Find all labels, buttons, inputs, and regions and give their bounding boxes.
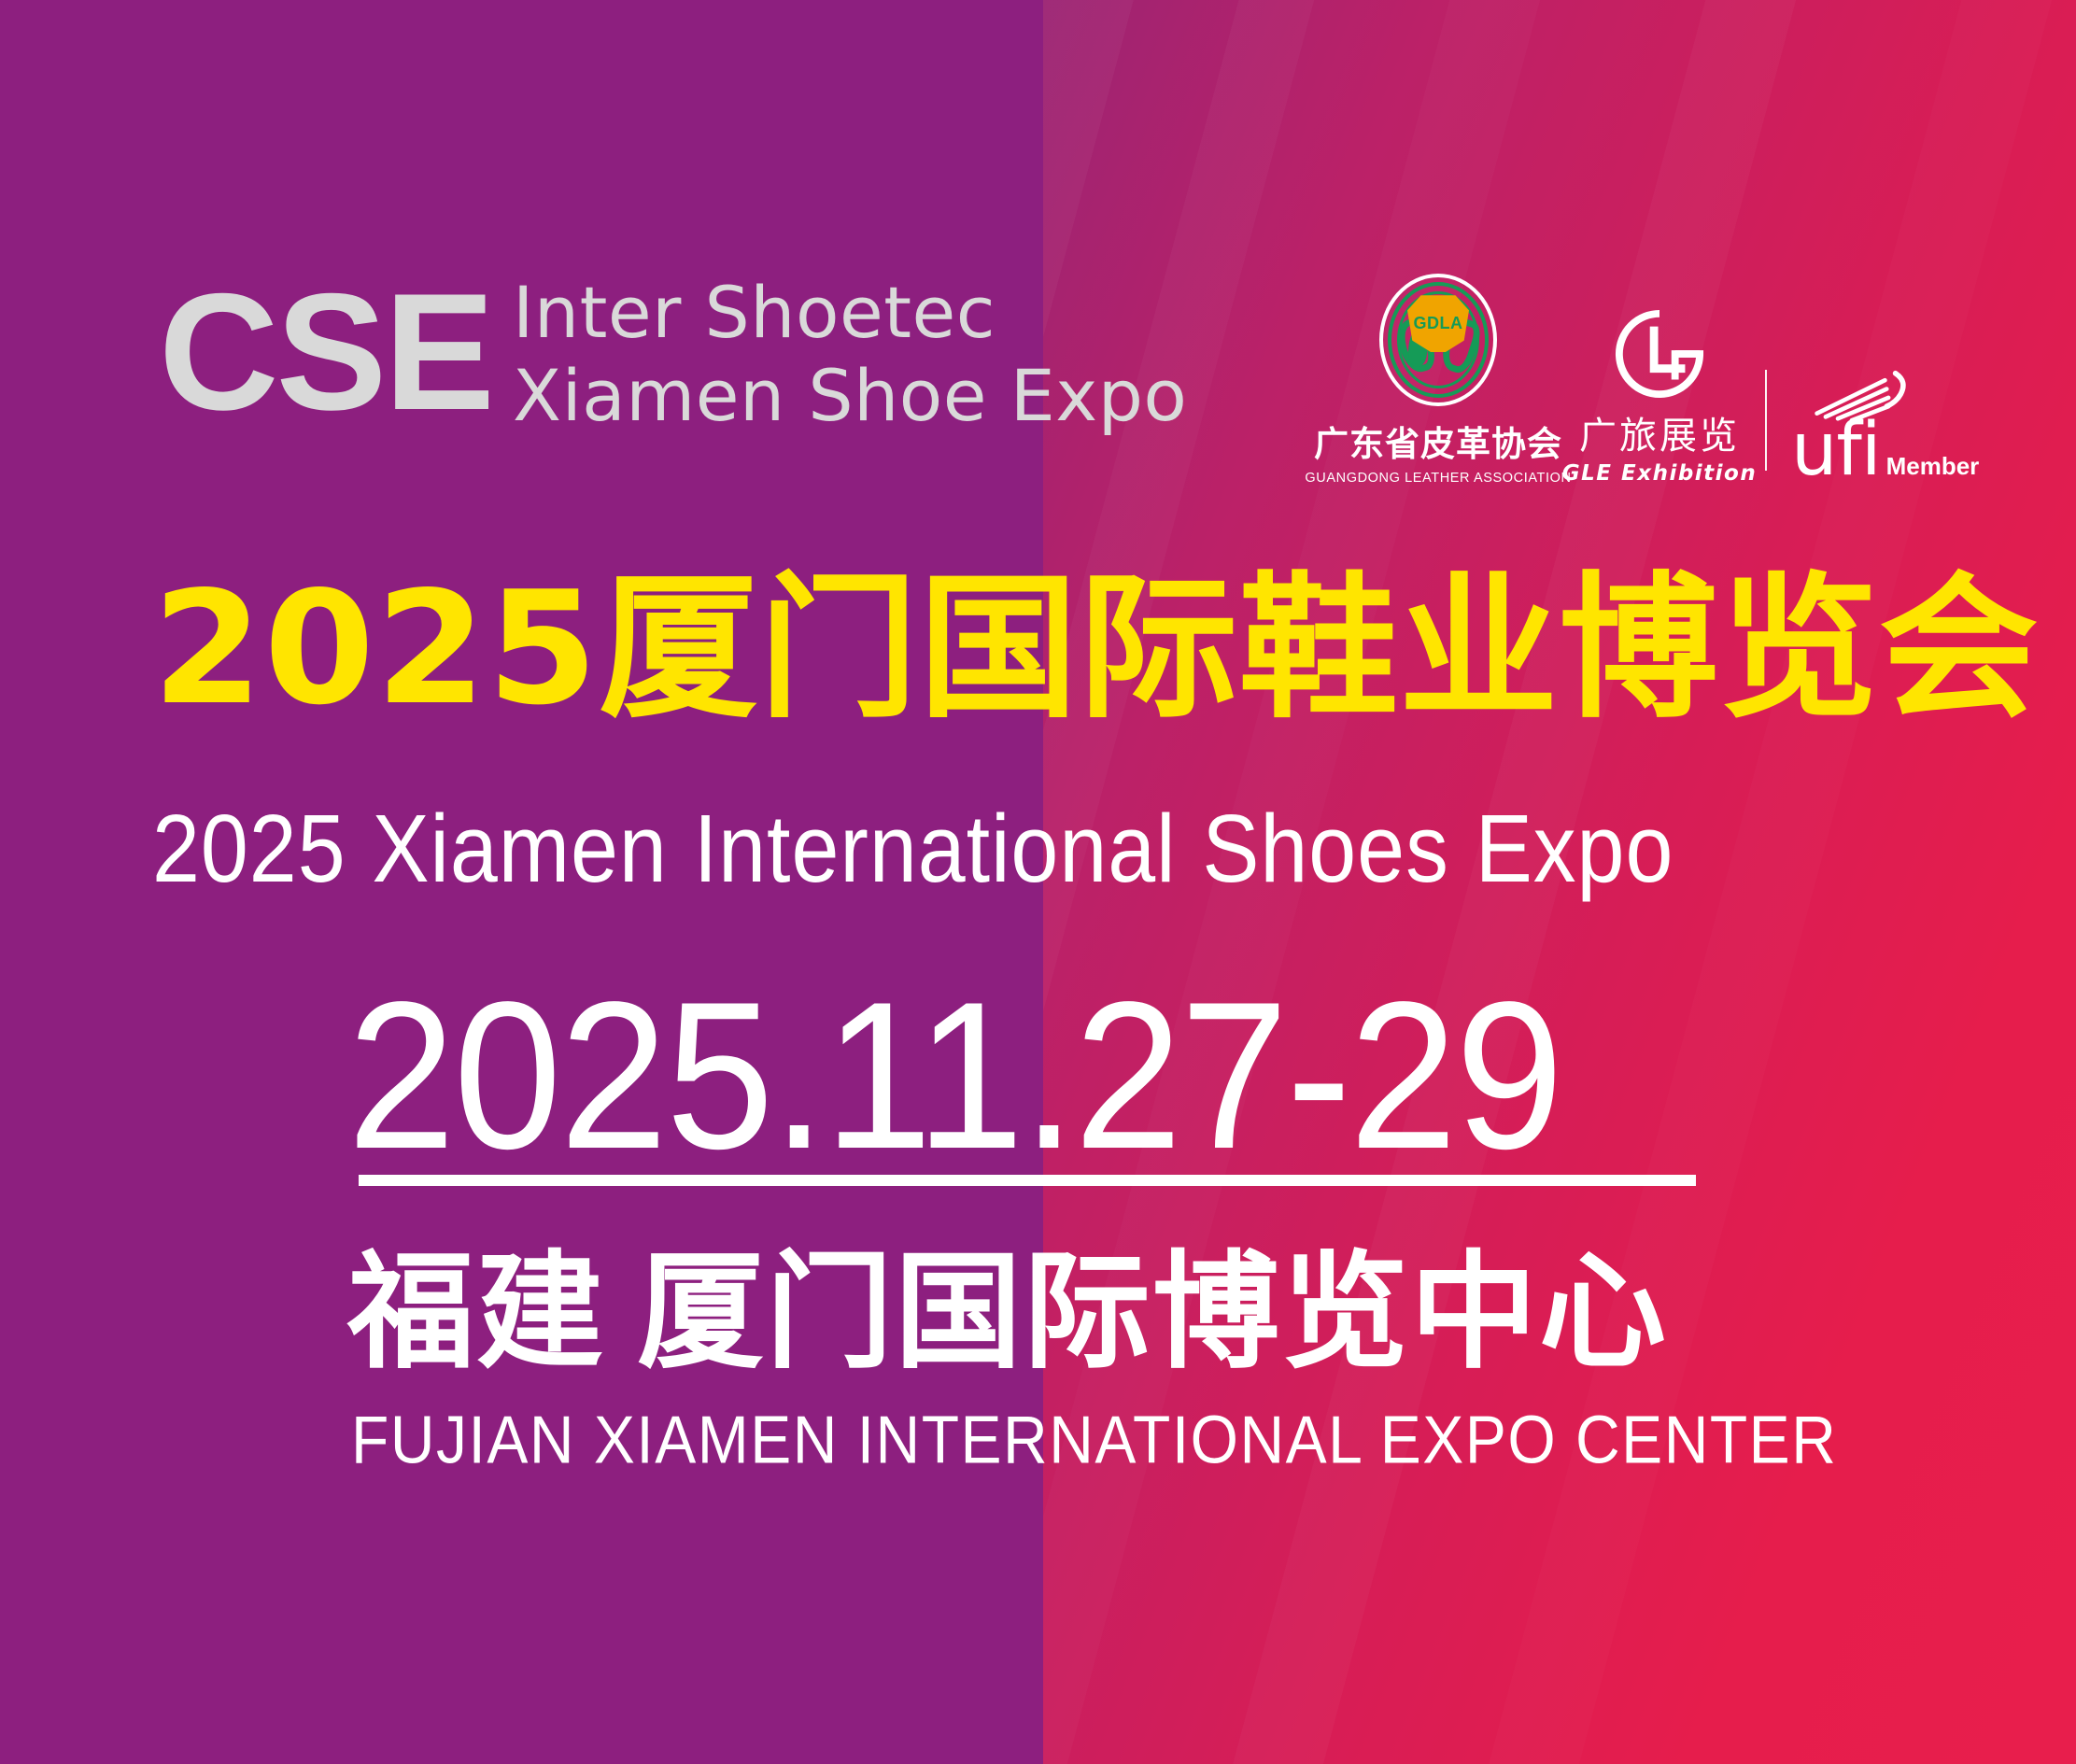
gle-name-cn: 广旅展览	[1579, 405, 1740, 459]
logo-divider-rule	[1765, 370, 1767, 471]
ufi-logo: ufi Member	[1791, 368, 1978, 486]
expo-poster: CSE Inter Shoetec Xiamen Shoe Expo	[0, 0, 2076, 1764]
gdla-emblem-text: GDLA	[1414, 314, 1463, 333]
headline-chinese: 2025厦门国际鞋业博览会	[152, 572, 2039, 727]
gle-logo: 广旅展览 GLE Exhibition	[1575, 308, 1744, 486]
cse-wordmark: CSE	[159, 280, 492, 423]
gdla-name-en: GUANGDONG LEATHER ASSOCIATION	[1305, 471, 1571, 486]
ufi-wordmark-row: ufi Member	[1791, 420, 1979, 482]
horizontal-divider	[359, 1175, 1696, 1186]
cse-brand-lockup: CSE Inter Shoetec Xiamen Shoe Expo	[159, 266, 1187, 438]
gle-name-en: GLE Exhibition	[1562, 461, 1757, 486]
cse-tagline-line2: Xiamen Shoe Expo	[513, 355, 1187, 438]
headline-english: 2025XiamenInternationalShoesExpo	[152, 801, 1674, 897]
ufi-wordmark: ufi	[1791, 420, 1881, 482]
gdla-seal-icon: GDLA	[1379, 274, 1497, 406]
event-date: 2025.11.27-29	[347, 971, 1561, 1181]
venue-name-chinese: 福建厦门国际博览中心	[347, 1249, 1668, 1376]
cse-tagline-line1: Inter Shoetec	[513, 272, 1187, 355]
subtitle-word-expo: Expo	[1476, 796, 1674, 902]
gdla-logo: GDLA 广东省皮革协会 GUANGDONG LEATHER ASSOCIATI…	[1345, 274, 1532, 486]
partner-logos: GDLA 广东省皮革协会 GUANGDONG LEATHER ASSOCIATI…	[1345, 274, 1978, 486]
gdla-name-cn: 广东省皮革协会	[1314, 416, 1562, 466]
ufi-member-label: Member	[1886, 452, 1980, 481]
gle-ufi-group: 广旅展览 GLE Exhibition ufi	[1575, 308, 1978, 486]
cse-tagline-block: Inter Shoetec Xiamen Shoe Expo	[513, 266, 1187, 438]
venue-center-cn: 厦门国际博览中心	[637, 1239, 1668, 1387]
gle-circle-g-icon	[1614, 308, 1705, 400]
subtitle-word-international: International	[694, 796, 1177, 902]
venue-province-cn: 福建	[347, 1239, 605, 1387]
header-row: CSE Inter Shoetec Xiamen Shoe Expo	[0, 266, 2076, 490]
poster-content: CSE Inter Shoetec Xiamen Shoe Expo	[0, 0, 2076, 1764]
subtitle-word-year: 2025	[152, 796, 346, 902]
subtitle-word-shoes: Shoes	[1202, 796, 1449, 902]
subtitle-word-xiamen: Xiamen	[372, 796, 667, 902]
venue-name-english: FUJIAN XIAMEN INTERNATIONAL EXPO CENTER	[351, 1405, 1837, 1474]
